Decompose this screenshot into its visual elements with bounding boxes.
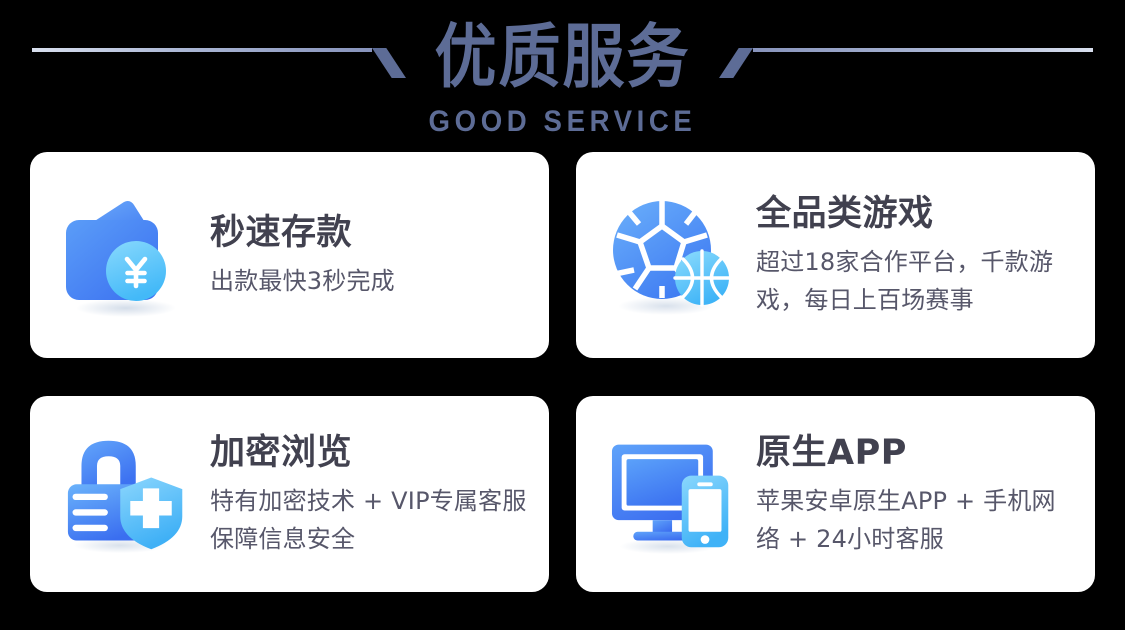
feature-card-native-app-text: 原生APP 苹果安卓原生APP + 手机网络 + 24小时客服 [756, 430, 1077, 558]
monitor-phone-icon [604, 431, 744, 557]
feature-card-games-text: 全品类游戏 超过18家合作平台，千款游戏，每日上百场赛事 [756, 191, 1077, 319]
feature-card-native-app-title: 原生APP [756, 430, 1077, 476]
page-header: 优质服务 GOOD SERVICE [0, 0, 1125, 140]
feature-card-deposit-desc: 出款最快3秒完成 [210, 262, 531, 300]
page-title-block: 优质服务 GOOD SERVICE [0, 0, 1125, 138]
feature-card-deposit[interactable]: 秒速存款 出款最快3秒完成 [30, 152, 549, 358]
page-title: 优质服务 [0, 0, 1125, 105]
feature-card-encryption-desc: 特有加密技术 + VIP专属客服保障信息安全 [210, 482, 531, 558]
soccer-basketball-icon [604, 190, 744, 320]
feature-card-encryption[interactable]: 加密浏览 特有加密技术 + VIP专属客服保障信息安全 [30, 396, 549, 592]
wallet-yen-icon [58, 190, 198, 320]
feature-card-deposit-text: 秒速存款 出款最快3秒完成 [210, 210, 531, 300]
feature-card-games-desc: 超过18家合作平台，千款游戏，每日上百场赛事 [756, 243, 1077, 319]
feature-card-native-app-desc: 苹果安卓原生APP + 手机网络 + 24小时客服 [756, 482, 1077, 558]
page-subtitle: GOOD SERVICE [45, 106, 1080, 138]
feature-card-games-title: 全品类游戏 [756, 191, 1077, 237]
feature-card-games[interactable]: 全品类游戏 超过18家合作平台，千款游戏，每日上百场赛事 [576, 152, 1095, 358]
feature-card-encryption-title: 加密浏览 [210, 430, 531, 476]
promo-page: 优质服务 GOOD SERVICE [0, 0, 1125, 630]
lock-shield-icon [58, 431, 198, 557]
feature-card-native-app[interactable]: 原生APP 苹果安卓原生APP + 手机网络 + 24小时客服 [576, 396, 1095, 592]
feature-card-deposit-title: 秒速存款 [210, 210, 531, 256]
feature-card-grid: 秒速存款 出款最快3秒完成 [30, 152, 1095, 592]
feature-card-encryption-text: 加密浏览 特有加密技术 + VIP专属客服保障信息安全 [210, 430, 531, 558]
